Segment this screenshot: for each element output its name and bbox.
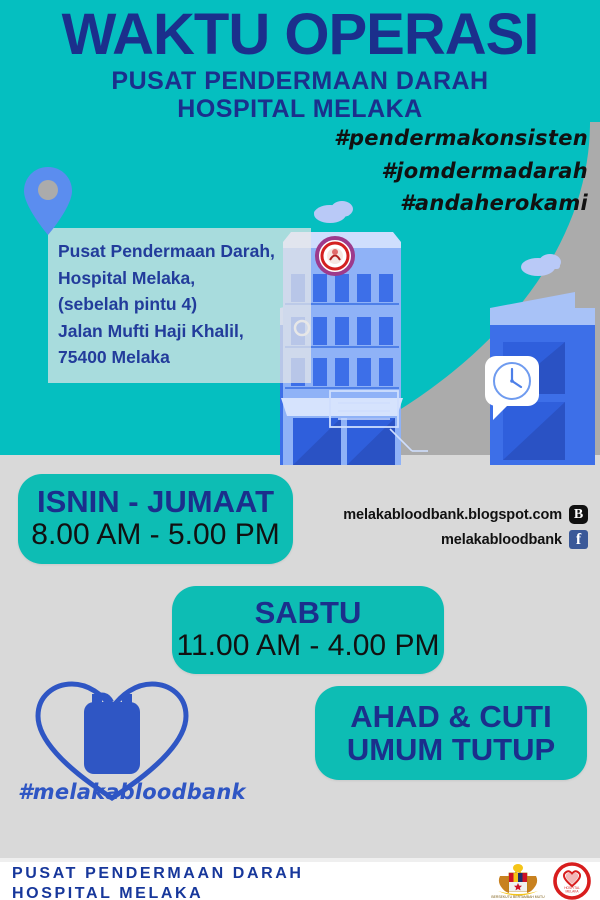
map-pin-icon bbox=[22, 165, 74, 237]
cloud-icon-2 bbox=[521, 254, 561, 276]
poster-canvas: WAKTU OPERASI PUSAT PENDERMAAN DARAH HOS… bbox=[0, 0, 600, 900]
svg-text:BERSEKUTU BERTAMBAH MUTU: BERSEKUTU BERTAMBAH MUTU bbox=[491, 895, 545, 899]
saturday-day-label: SABTU bbox=[255, 596, 362, 629]
malaysia-coat-of-arms-logo: BERSEKUTU BERTAMBAH MUTU bbox=[490, 862, 546, 900]
address-line-5: 75400 Melaka bbox=[58, 344, 303, 371]
hospital-melaka-logo: HOSPITAL MELAKA bbox=[552, 862, 592, 900]
social-row-facebook[interactable]: melakabloodbank f bbox=[308, 530, 588, 549]
bag-tab-left bbox=[92, 694, 102, 706]
facebook-icon[interactable]: f bbox=[569, 530, 588, 549]
hashtag-2: #jomdermadarah bbox=[258, 155, 588, 188]
footer-line-2: HOSPITAL MELAKA bbox=[12, 884, 304, 900]
bag-tab-right bbox=[122, 694, 132, 706]
schedule-card-weekday: ISNIN - JUMAAT 8.00 AM - 5.00 PM bbox=[18, 474, 293, 564]
closed-day-label: AHAD & CUTI bbox=[350, 700, 552, 733]
schedule-card-saturday: SABTU 11.00 AM - 4.00 PM bbox=[172, 586, 444, 674]
signboard-lineart bbox=[300, 385, 430, 465]
footer-text-block: PUSAT PENDERMAAN DARAH HOSPITAL MELAKA bbox=[12, 864, 304, 900]
blogger-icon[interactable]: B bbox=[569, 505, 588, 524]
blood-bag-body bbox=[84, 702, 140, 774]
closed-status-label: UMUM TUTUP bbox=[347, 733, 555, 766]
page-title: WAKTU OPERASI bbox=[0, 6, 600, 64]
weekday-day-label: ISNIN - JUMAAT bbox=[37, 485, 274, 518]
address-line-1: Pusat Pendermaan Darah, bbox=[58, 238, 303, 265]
poster-footer: PUSAT PENDERMAAN DARAH HOSPITAL MELAKA B… bbox=[0, 862, 600, 900]
hashtag-1: #pendermakonsisten bbox=[258, 122, 588, 155]
hashtag-3: #andaherokami bbox=[258, 187, 588, 220]
saturday-time-label: 11.00 AM - 4.00 PM bbox=[177, 629, 440, 664]
schedule-card-closed: AHAD & CUTI UMUM TUTUP bbox=[315, 686, 587, 780]
social-links: melakabloodbank.blogspot.com B melakablo… bbox=[308, 505, 588, 555]
hashtag-group: #pendermakonsisten #jomdermadarah #andah… bbox=[258, 122, 588, 220]
poster-header: WAKTU OPERASI PUSAT PENDERMAAN DARAH HOS… bbox=[0, 0, 600, 123]
social-row-blogger[interactable]: melakabloodbank.blogspot.com B bbox=[308, 505, 588, 524]
subtitle-line-2: HOSPITAL MELAKA bbox=[0, 96, 600, 124]
address-panel: Pusat Pendermaan Darah, Hospital Melaka,… bbox=[48, 228, 311, 383]
subtitle-line-1: PUSAT PENDERMAAN DARAH bbox=[0, 68, 600, 96]
footer-line-1: PUSAT PENDERMAAN DARAH bbox=[12, 864, 304, 884]
brand-hashtag: #melakabloodbank bbox=[18, 780, 218, 804]
address-line-4: Jalan Mufti Haji Khalil, bbox=[58, 318, 303, 345]
address-line-3: (sebelah pintu 4) bbox=[58, 291, 303, 318]
blogger-handle: melakabloodbank.blogspot.com bbox=[343, 507, 562, 523]
address-line-2: Hospital Melaka, bbox=[58, 265, 303, 292]
facebook-handle: melakabloodbank bbox=[441, 532, 562, 548]
svg-text:MELAKA: MELAKA bbox=[566, 889, 580, 893]
footer-logo-group: BERSEKUTU BERTAMBAH MUTU HOSPITAL MELAKA bbox=[490, 862, 592, 900]
weekday-time-label: 8.00 AM - 5.00 PM bbox=[31, 518, 279, 553]
